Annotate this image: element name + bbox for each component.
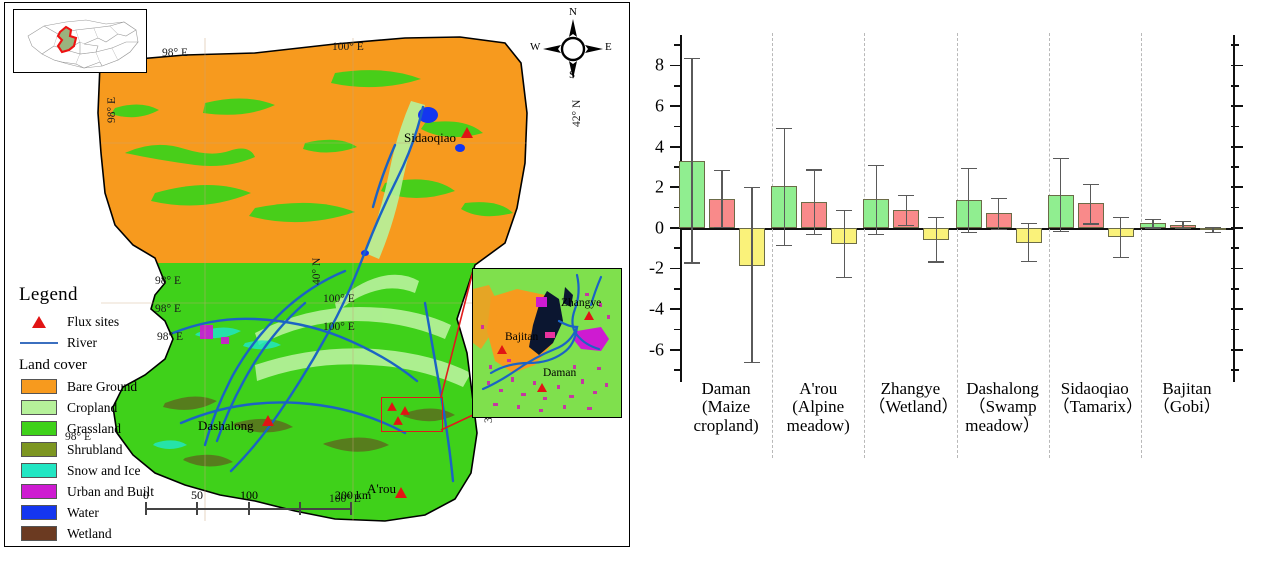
legend-row-bare-ground: Bare Ground [17,376,164,397]
legend-row-shrubland: Shrubland [17,439,164,460]
swatch-shrubland [17,442,61,457]
error-cap-bottom-gpp-1 [776,245,792,246]
error-cap-bottom-nee-3 [1021,261,1037,262]
legend-subtitle-land-cover: Land cover [19,357,164,374]
y-tick-major-right--2 [1231,268,1243,270]
compass-west-label: W [530,41,540,53]
inset-site-label-daman: Daman [543,367,576,379]
compass-east-label: E [605,41,612,53]
x-axis-category-1-line-1: (Alpine [776,398,860,416]
plot-area: -6-4-202468Daman(Maizecropland)A'rou(Alp… [633,0,1266,565]
graticule-label-42n: 42° N [571,100,583,127]
flux-site-icon [17,316,61,328]
legend-row-cropland: Cropland [17,397,164,418]
y-tick-label--6: -6 [630,339,664,360]
legend-row-grassland: Grassland [17,418,164,439]
error-cap-top-gpp-1 [776,128,792,129]
error-cap-top-nee-0 [744,187,760,188]
error-cap-bottom-gpp-0 [684,262,700,263]
error-cap-top-re-0 [714,170,730,171]
detail-inset-map: Zhangye Bajitan Daman [472,268,622,418]
graticule-label-98e-top: 98° E [162,47,188,59]
error-bar-re-1 [814,169,815,233]
legend-label-snow-and-ice: Snow and Ice [61,463,140,479]
swatch-grassland [17,421,61,436]
y-tick-label-2: 2 [630,177,664,198]
scalebar-label-50: 50 [191,488,203,503]
error-cap-top-gpp-3 [961,168,977,169]
error-bar-gpp-3 [968,168,969,232]
x-axis-category-5-line-0: Bajitan [1145,380,1229,398]
y-tick-label--2: -2 [630,258,664,279]
error-cap-bottom-nee-0 [744,362,760,363]
error-bar-gpp-1 [784,128,785,245]
figure-root: 98° E 100° E 42° N 40° N 38° N 98° E 98°… [0,0,1266,565]
error-cap-top-gpp-4 [1053,158,1069,159]
y-tick-minor-5 [674,126,682,128]
x-axis-category-4-line-1: （Tamarix） [1053,398,1137,416]
error-cap-bottom-re-1 [806,234,822,235]
x-axis-category-4: Sidaoqiao（Tamarix） [1053,380,1137,417]
error-bar-re-3 [998,198,999,229]
x-axis-category-0-line-2: cropland) [684,417,768,435]
error-cap-top-nee-2 [928,217,944,218]
error-cap-bottom-gpp-4 [1053,231,1069,232]
legend-label-river: River [61,335,97,351]
error-bar-gpp-2 [876,165,877,234]
error-bar-re-0 [721,170,722,227]
error-cap-top-re-3 [991,198,1007,199]
graticule-label-100e-top: 100° E [332,41,364,53]
error-bar-nee-0 [751,187,752,362]
inset-site-label-bajitan: Bajitan [505,331,538,343]
error-cap-bottom-gpp-2 [868,234,884,235]
y-tick-major-right-6 [1231,105,1243,107]
x-axis-category-1-line-2: meadow) [776,417,860,435]
x-axis-category-4-line-0: Sidaoqiao [1053,380,1137,398]
y-tick-minor-right-3 [1231,166,1239,168]
x-axis-category-1-line-0: A'rou [776,380,860,398]
error-cap-bottom-re-2 [898,225,914,226]
y-tick-major-4 [670,146,682,148]
error-bar-gpp-0 [691,58,692,262]
error-cap-bottom-re-4 [1083,223,1099,224]
legend-label-water: Water [61,505,99,521]
map-panel: 98° E 100° E 42° N 40° N 38° N 98° E 98°… [0,0,633,565]
error-cap-bottom-re-3 [991,229,1007,230]
legend-row-water: Water [17,502,164,523]
error-cap-bottom-gpp-5 [1145,227,1161,228]
x-axis-category-3-line-2: meadow） [961,417,1045,435]
graticule-label-100e-a: 100° E [323,293,355,305]
y-tick-major-right-0 [1231,227,1243,229]
swatch-snow-and-ice [17,463,61,478]
site-label-dashalong: Dashalong [198,418,254,434]
legend-label-wetland: Wetland [61,526,112,542]
error-cap-top-gpp-0 [684,58,700,59]
legend-row-wetland: Wetland [17,523,164,544]
error-cap-top-gpp-5 [1145,219,1161,220]
x-axis-category-5: Bajitan（Gobi） [1145,380,1229,417]
y-tick-minor-7 [674,85,682,87]
error-bar-gpp-4 [1060,158,1061,231]
zoom-extent-box [381,397,443,432]
error-bar-nee-4 [1120,217,1121,257]
inset-flux-site-marker-zhangye[interactable] [584,311,594,320]
error-bar-nee-1 [844,210,845,277]
y-tick-major-right-4 [1231,146,1243,148]
y-tick-major-right--4 [1231,308,1243,310]
x-axis-category-3: Dashalong（Swampmeadow） [961,380,1045,435]
error-cap-bottom-nee-5 [1205,232,1221,233]
compass-south-label: S [569,69,575,81]
x-axis-category-0: Daman(Maizecropland) [684,380,768,435]
y-tick-minor-right--5 [1231,329,1239,331]
y-tick-major-8 [670,65,682,67]
y-tick-minor--1 [674,247,682,249]
y-tick-label-0: 0 [630,217,664,238]
scalebar-label-200km: 200 km [335,488,371,503]
error-cap-bottom-re-5 [1175,228,1191,229]
site-label-sidaoqiao: Sidaoqiao [404,130,456,146]
river-line-icon [17,342,61,344]
error-bar-re-4 [1090,184,1091,224]
y-tick-minor-right-9 [1231,44,1239,46]
inset-site-label-zhangye: Zhangye [561,297,601,309]
y-tick-major-6 [670,105,682,107]
china-inset-svg [14,10,146,72]
scalebar-label-100: 100 [240,488,258,503]
y-tick-minor-right-7 [1231,85,1239,87]
y-tick-label--4: -4 [630,299,664,320]
legend-label-grassland: Grassland [61,421,121,437]
map-scalebar: 0 50 100 200 km [145,488,351,522]
error-cap-top-nee-1 [836,210,852,211]
legend-label-urban-and-built: Urban and Built [61,484,154,500]
y-tick-minor-right-1 [1231,207,1239,209]
y-tick-label-6: 6 [630,95,664,116]
error-cap-top-nee-5 [1205,227,1221,228]
swatch-urban-and-built [17,484,61,499]
graticule-label-98e-left: 98° E [106,97,118,123]
error-cap-top-nee-4 [1113,217,1129,218]
y-tick-major--2 [670,268,682,270]
error-cap-top-gpp-2 [868,165,884,166]
x-axis-category-0-line-1: (Maize [684,398,768,416]
legend-label-flux-sites: Flux sites [61,314,119,330]
legend-label-cropland: Cropland [61,400,117,416]
x-axis-category-3-line-0: Dashalong [961,380,1045,398]
y-tick-minor-right--1 [1231,247,1239,249]
compass-rose: N S E W [525,7,621,87]
y-tick-major--4 [670,308,682,310]
x-axis-category-2-line-1: （Wetland） [868,398,952,416]
error-cap-top-re-1 [806,169,822,170]
x-axis-category-3-line-1: （Swamp [961,398,1045,416]
legend-row-urban-and-built: Urban and Built [17,481,164,502]
y-tick-major-right-2 [1231,186,1243,188]
swatch-cropland [17,400,61,415]
error-cap-bottom-nee-2 [928,261,944,262]
flux-site-marker-arou[interactable] [395,487,407,498]
x-axis-category-0-line-0: Daman [684,380,768,398]
carbon-flux-chart-panel: Carbon fluxes (g C m⁻² d⁻¹) -6-4-202468D… [633,0,1266,565]
detail-inset-svg [473,269,621,417]
y-tick-minor-right--7 [1231,369,1239,371]
y-tick-minor-9 [674,44,682,46]
y-tick-minor-right-5 [1231,126,1239,128]
inset-flux-site-marker-bajitan[interactable] [497,345,507,354]
error-bar-gpp-5 [1152,219,1153,227]
legend-label-bare-ground: Bare Ground [61,379,137,395]
site-label-arou: A'rou [367,481,396,497]
error-cap-bottom-gpp-3 [961,232,977,233]
error-cap-bottom-re-0 [714,227,730,228]
china-locator-inset [13,9,147,73]
error-bar-nee-3 [1028,223,1029,261]
map-frame: 98° E 100° E 42° N 40° N 38° N 98° E 98°… [4,2,630,547]
error-cap-top-nee-3 [1021,223,1037,224]
error-bar-nee-2 [936,217,937,261]
compass-north-label: N [569,6,577,18]
legend-label-shrubland: Shrubland [61,442,123,458]
swatch-bare-ground [17,379,61,394]
x-axis-category-1: A'rou(Alpinemeadow) [776,380,860,435]
group-separator-3 [957,33,958,458]
flux-site-marker-sidaoqiao[interactable] [461,127,473,138]
x-axis-category-2: Zhangye（Wetland） [868,380,952,417]
error-cap-top-re-5 [1175,221,1191,222]
y-tick-major--6 [670,349,682,351]
swatch-wetland [17,526,61,541]
x-axis-category-5-line-1: （Gobi） [1145,398,1229,416]
y-tick-minor--3 [674,288,682,290]
x-axis-category-2-line-0: Zhangye [868,380,952,398]
error-cap-top-re-2 [898,195,914,196]
swatch-water [17,505,61,520]
scalebar-label-0: 0 [143,488,149,503]
group-separator-5 [1141,33,1142,458]
group-separator-1 [772,33,773,458]
y-tick-major-right-8 [1231,65,1243,67]
y-tick-label-8: 8 [630,55,664,76]
legend-row-snow-and-ice: Snow and Ice [17,460,164,481]
group-separator-2 [864,33,865,458]
legend-row-flux-sites: Flux sites [17,311,164,332]
graticule-label-100e-b: 100° E [323,321,355,333]
error-cap-top-re-4 [1083,184,1099,185]
error-bar-re-2 [906,195,907,225]
graticule-label-40n: 40° N [311,258,323,285]
y-tick-minor-right--3 [1231,288,1239,290]
y-tick-label-4: 4 [630,136,664,157]
y-tick-minor--7 [674,369,682,371]
error-cap-bottom-nee-4 [1113,257,1129,258]
y-tick-minor--5 [674,329,682,331]
y-tick-major-right--6 [1231,349,1243,351]
legend-row-river: River [17,332,164,353]
inset-flux-site-marker-daman[interactable] [537,383,547,392]
error-cap-bottom-nee-1 [836,277,852,278]
flux-site-marker-dashalong[interactable] [262,415,274,426]
group-separator-4 [1049,33,1050,458]
map-legend-title: Legend [19,284,164,306]
